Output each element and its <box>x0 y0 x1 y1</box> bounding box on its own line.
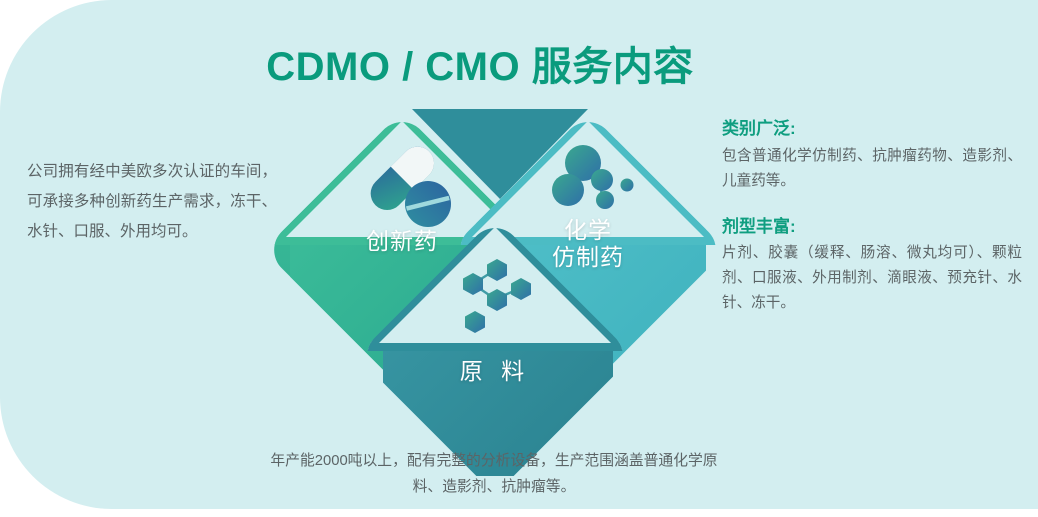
diamond-label-chemical-generic: 化学 仿制药 <box>513 217 663 271</box>
right-description-column: 类别广泛: 包含普通化学仿制药、抗肿瘤药物、造影剂、儿童药等。 剂型丰富: 片剂… <box>722 116 1022 336</box>
infographic-canvas: 创新药 化学 仿制药 原 料 CDMO / CMO 服务内容 公司拥有经中美欧多… <box>0 0 1038 517</box>
diamond-label-raw-material: 原 料 <box>420 358 570 385</box>
right-section-body-dosage-forms: 片剂、胶囊（缓释、肠溶、微丸均可）、颗粒剂、口服液、外用制剂、滴眼液、预充针、水… <box>722 241 1022 316</box>
right-section-body-categories: 包含普通化学仿制药、抗肿瘤药物、造影剂、儿童药等。 <box>722 144 1022 194</box>
bottom-description-text: 年产能2000吨以上，配有完整的分析设备，生产范围涵盖普通化学原料、造影剂、抗肿… <box>268 448 720 501</box>
right-section-heading-categories: 类别广泛: <box>722 116 1022 142</box>
left-description-text: 公司拥有经中美欧多次认证的车间，可承接多种创新药生产需求，冻干、水针、口服、外用… <box>27 157 277 248</box>
right-section-heading-dosage-forms: 剂型丰富: <box>722 214 1022 240</box>
diamond-label-innovative-drug: 创新药 <box>327 228 477 255</box>
page-title: CDMO / CMO 服务内容 <box>0 34 960 92</box>
